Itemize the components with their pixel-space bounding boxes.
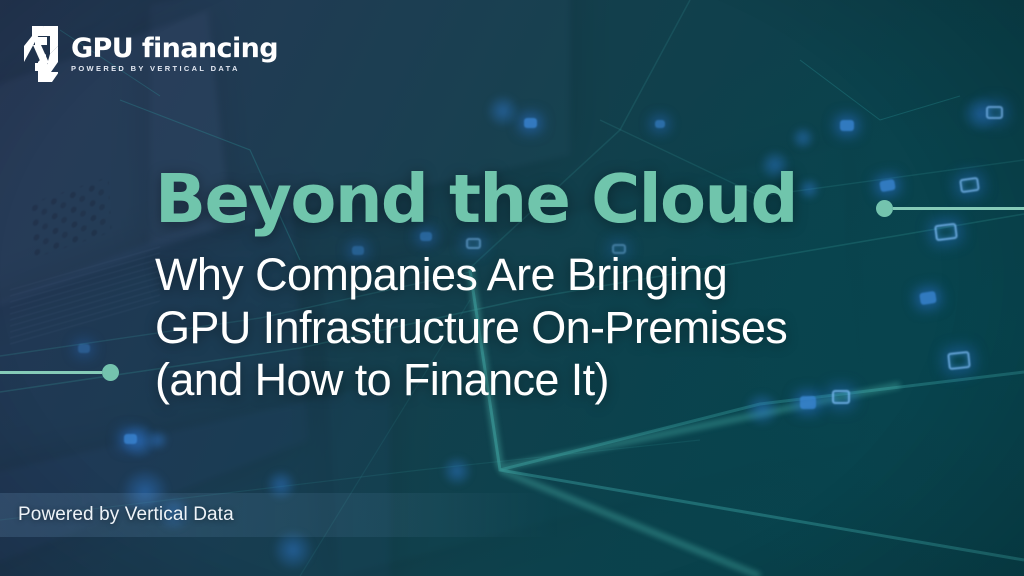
page-subtitle: Why Companies Are Bringing GPU Infrastru… xyxy=(155,249,945,407)
brand-logo-text: GPU financing POWERED BY VERTICAL DATA xyxy=(71,35,278,73)
chip-node xyxy=(840,120,854,131)
chip-node xyxy=(986,106,1003,119)
brand-logo[interactable]: GPU financing POWERED BY VERTICAL DATA xyxy=(24,26,278,82)
glow-node xyxy=(146,430,170,450)
angular-s-logo-icon xyxy=(24,26,58,82)
glow-node xyxy=(790,126,816,150)
brand-tagline: POWERED BY VERTICAL DATA xyxy=(71,65,278,73)
chip-node xyxy=(78,344,90,353)
headline-block: Beyond the Cloud Why Companies Are Bring… xyxy=(155,166,945,407)
glow-node xyxy=(440,456,474,486)
chip-node xyxy=(959,177,980,194)
chip-node xyxy=(947,351,971,370)
decorative-line xyxy=(0,371,102,374)
glow-node xyxy=(486,94,520,128)
decorative-dot-icon xyxy=(102,364,119,381)
chip-node xyxy=(524,118,537,128)
subtitle-line: GPU Infrastructure On-Premises xyxy=(155,302,945,355)
slide-canvas: GPU financing POWERED BY VERTICAL DATA B… xyxy=(0,0,1024,576)
chip-node xyxy=(124,434,137,444)
decorative-rule-left xyxy=(0,364,119,381)
page-title: Beyond the Cloud xyxy=(155,166,945,233)
chip-node xyxy=(655,120,665,128)
subtitle-line: Why Companies Are Bringing xyxy=(155,249,945,302)
brand-wordmark: GPU financing xyxy=(71,35,278,62)
subtitle-line: (and How to Finance It) xyxy=(155,354,945,407)
footer-attribution: Powered by Vertical Data xyxy=(18,504,234,526)
